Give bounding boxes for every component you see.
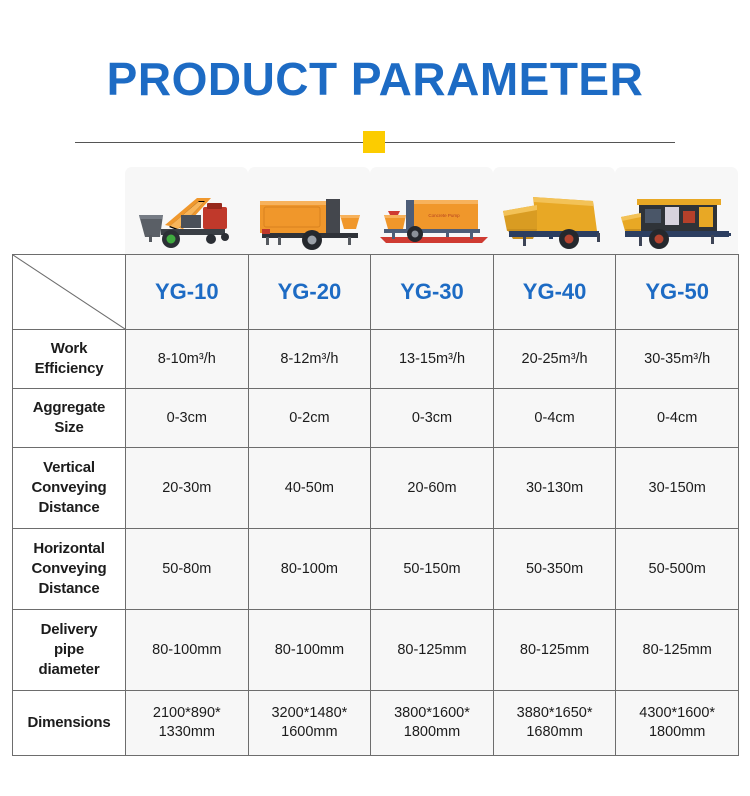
cell-pipe-diameter-yg-20: 80-100mm xyxy=(248,610,371,691)
product-image-yg-40[interactable] xyxy=(493,167,616,254)
product-parameter-table: YG-10 YG-20 YG-30 YG-40 YG-50 WorkEffici… xyxy=(12,254,739,756)
cell-vertical-distance-yg-10: 20-30m xyxy=(126,448,249,529)
cell-dimensions-yg-40: 3880*1650*1680mm xyxy=(493,691,616,756)
cell-work-efficiency-yg-30: 13-15m³/h xyxy=(371,330,494,389)
cell-horizontal-distance-yg-10: 50-80m xyxy=(126,529,249,610)
model-header-yg-50: YG-50 xyxy=(616,255,739,330)
product-image-strip: Concrete Pump xyxy=(125,167,738,254)
cell-work-efficiency-yg-10: 8-10m³/h xyxy=(126,330,249,389)
row-label-aggregate-size: AggregateSize xyxy=(13,389,126,448)
corner-slash-cell xyxy=(13,255,126,330)
model-header-yg-10: YG-10 xyxy=(126,255,249,330)
page-title: PRODUCT PARAMETER xyxy=(0,52,750,106)
divider-square-accent xyxy=(363,131,385,153)
table-row-dimensions: Dimensions 2100*890*1330mm 3200*1480*160… xyxy=(13,691,739,756)
table-header-row: YG-10 YG-20 YG-30 YG-40 YG-50 xyxy=(13,255,739,330)
row-label-vertical-conveying-distance: VerticalConveyingDistance xyxy=(13,448,126,529)
product-image-yg-20[interactable] xyxy=(248,167,371,254)
row-label-dimensions: Dimensions xyxy=(13,691,126,756)
cell-vertical-distance-yg-40: 30-130m xyxy=(493,448,616,529)
cell-pipe-diameter-yg-50: 80-125mm xyxy=(616,610,739,691)
cell-work-efficiency-yg-40: 20-25m³/h xyxy=(493,330,616,389)
table-row-aggregate-size: AggregateSize 0-3cm 0-2cm 0-3cm 0-4cm 0-… xyxy=(13,389,739,448)
cell-aggregate-size-yg-10: 0-3cm xyxy=(126,389,249,448)
cell-pipe-diameter-yg-30: 80-125mm xyxy=(371,610,494,691)
cell-work-efficiency-yg-50: 30-35m³/h xyxy=(616,330,739,389)
table-row-horizontal-conveying-distance: HorizontalConveyingDistance 50-80m 80-10… xyxy=(13,529,739,610)
product-image-yg-30[interactable]: Concrete Pump xyxy=(370,167,493,254)
cell-vertical-distance-yg-50: 30-150m xyxy=(616,448,739,529)
row-label-delivery-pipe-diameter: Deliverypipediameter xyxy=(13,610,126,691)
model-header-yg-30: YG-30 xyxy=(371,255,494,330)
cell-horizontal-distance-yg-30: 50-150m xyxy=(371,529,494,610)
cell-dimensions-yg-30: 3800*1600*1800mm xyxy=(371,691,494,756)
cell-dimensions-yg-20: 3200*1480*1600mm xyxy=(248,691,371,756)
product-image-yg-10[interactable] xyxy=(125,167,248,254)
product-image-yg-50[interactable] xyxy=(615,167,738,254)
cell-aggregate-size-yg-30: 0-3cm xyxy=(371,389,494,448)
cell-horizontal-distance-yg-50: 50-500m xyxy=(616,529,739,610)
cell-vertical-distance-yg-30: 20-60m xyxy=(371,448,494,529)
row-label-horizontal-conveying-distance: HorizontalConveyingDistance xyxy=(13,529,126,610)
cell-dimensions-yg-10: 2100*890*1330mm xyxy=(126,691,249,756)
cell-work-efficiency-yg-20: 8-12m³/h xyxy=(248,330,371,389)
cell-pipe-diameter-yg-40: 80-125mm xyxy=(493,610,616,691)
svg-text:Concrete Pump: Concrete Pump xyxy=(429,213,461,218)
table-row-delivery-pipe-diameter: Deliverypipediameter 80-100mm 80-100mm 8… xyxy=(13,610,739,691)
page-title-wrap: PRODUCT PARAMETER xyxy=(0,52,750,106)
cell-horizontal-distance-yg-20: 80-100m xyxy=(248,529,371,610)
cell-pipe-diameter-yg-10: 80-100mm xyxy=(126,610,249,691)
cell-horizontal-distance-yg-40: 50-350m xyxy=(493,529,616,610)
row-label-work-efficiency: WorkEfficiency xyxy=(13,330,126,389)
cell-dimensions-yg-50: 4300*1600*1800mm xyxy=(616,691,739,756)
cell-vertical-distance-yg-20: 40-50m xyxy=(248,448,371,529)
cell-aggregate-size-yg-20: 0-2cm xyxy=(248,389,371,448)
model-header-yg-40: YG-40 xyxy=(493,255,616,330)
title-divider xyxy=(75,131,675,153)
diagonal-slash-icon xyxy=(13,255,125,329)
model-header-yg-20: YG-20 xyxy=(248,255,371,330)
table-row-work-efficiency: WorkEfficiency 8-10m³/h 8-12m³/h 13-15m³… xyxy=(13,330,739,389)
cell-aggregate-size-yg-50: 0-4cm xyxy=(616,389,739,448)
table-row-vertical-conveying-distance: VerticalConveyingDistance 20-30m 40-50m … xyxy=(13,448,739,529)
cell-aggregate-size-yg-40: 0-4cm xyxy=(493,389,616,448)
